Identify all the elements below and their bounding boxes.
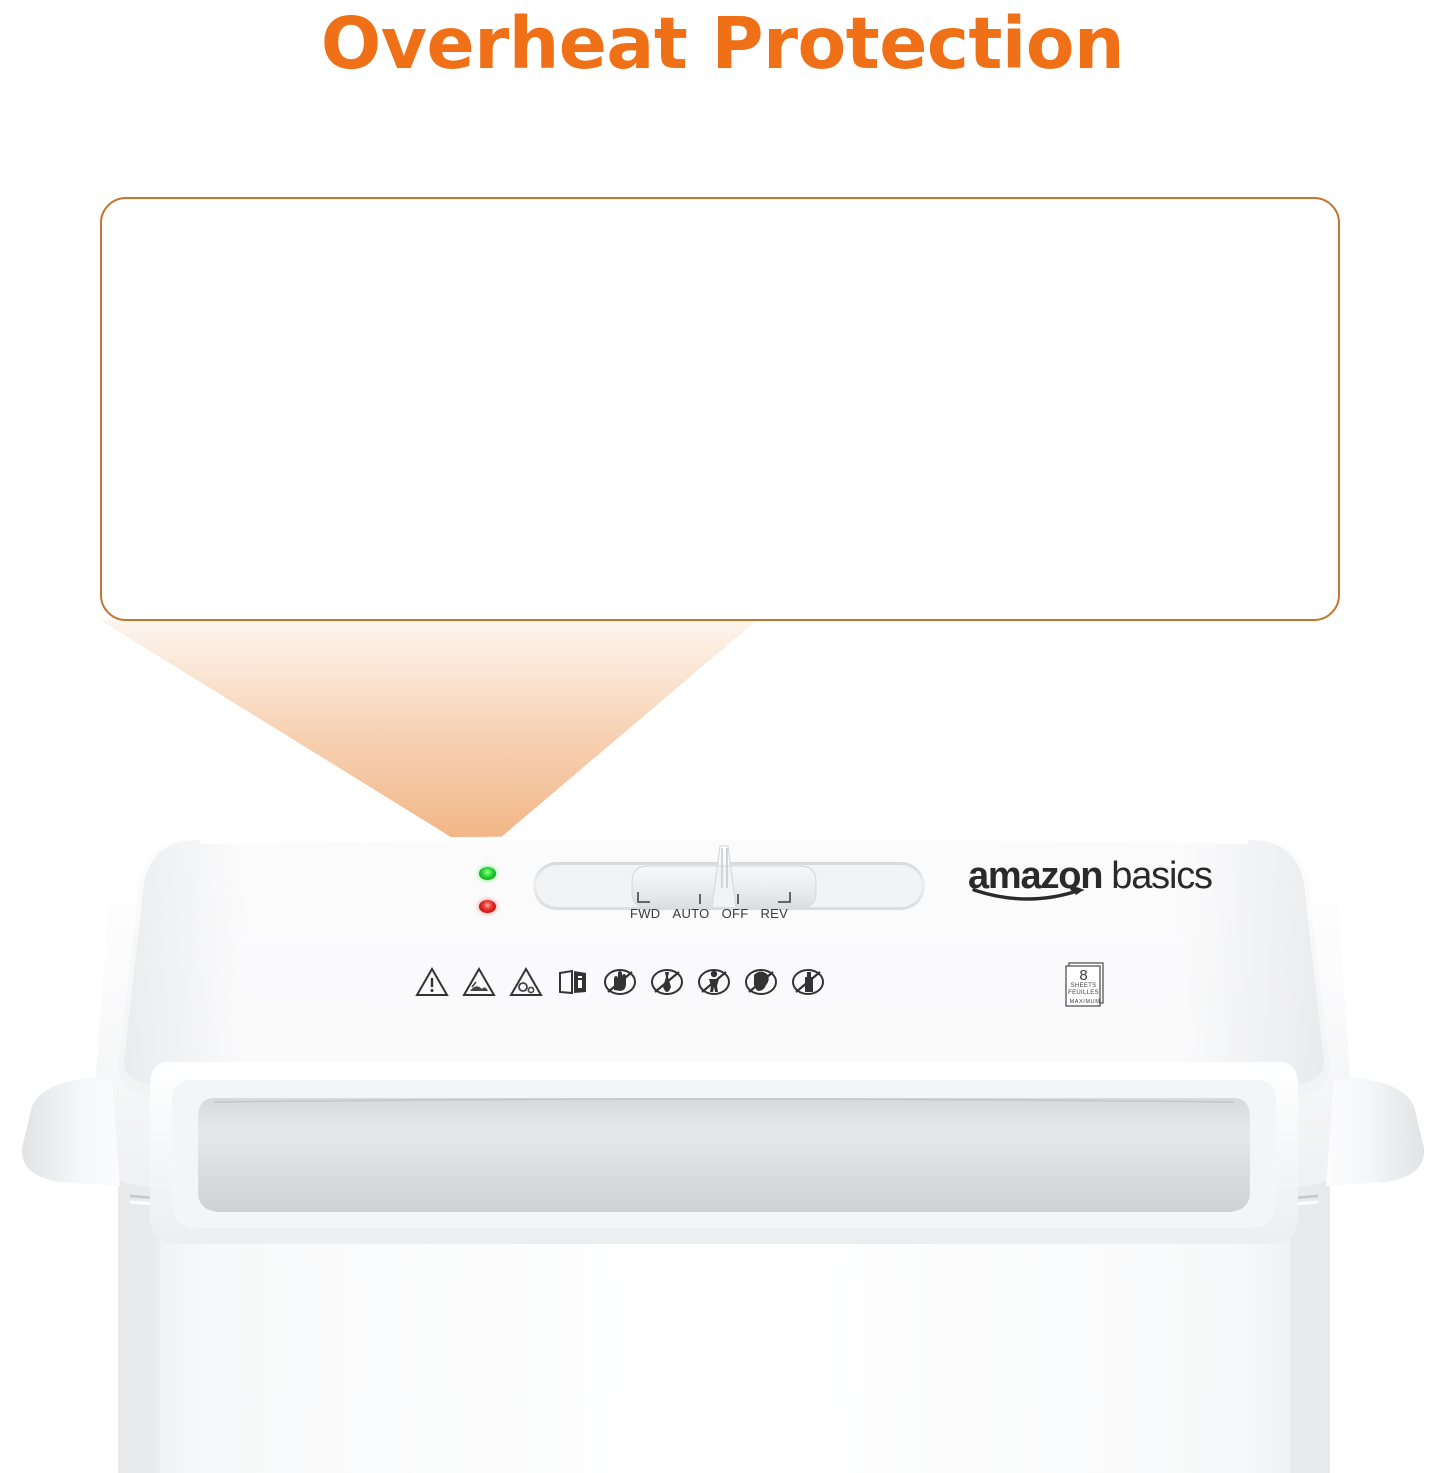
amazon-smile-icon — [972, 887, 1090, 903]
no-tie-icon — [650, 965, 684, 999]
no-aerosol-icon — [791, 965, 825, 999]
amazon-basics-logo: amazonbasics — [968, 855, 1212, 898]
sheet-count: 8 — [1060, 968, 1107, 983]
no-children-icon — [697, 965, 731, 999]
switch-label-auto[interactable]: AUTO — [673, 906, 710, 921]
warning-exclamation-icon — [415, 965, 449, 999]
no-long-hair-icon — [744, 965, 778, 999]
switch-position-labels: FWD AUTO OFF REV — [630, 906, 788, 921]
brand-basics: basics — [1111, 855, 1212, 897]
machine-overload-led — [479, 900, 496, 913]
switch-label-off[interactable]: OFF — [722, 906, 749, 921]
sheet-word-en: SHEETS — [1060, 983, 1107, 990]
machine-power-led — [479, 867, 496, 880]
sheet-word-fr: FEUILLES — [1060, 990, 1107, 997]
shredder-product-photo — [0, 830, 1445, 1473]
page-title: Overheat Protection — [0, 2, 1445, 85]
read-manual-icon — [556, 965, 590, 999]
no-hands-icon — [603, 965, 637, 999]
sheet-capacity-badge: 8 SHEETS FEUILLES MAXIMUM — [1063, 962, 1107, 1012]
infographic-root: Overheat Protection When the light is gr… — [0, 0, 1445, 1473]
callout-box — [100, 197, 1340, 621]
switch-label-rev[interactable]: REV — [760, 906, 788, 921]
warning-eye-hazard-icon — [509, 965, 543, 999]
warning-icon-strip — [415, 965, 825, 999]
sheet-maximum: MAXIMUM — [1063, 999, 1107, 1005]
switch-label-fwd[interactable]: FWD — [630, 906, 661, 921]
warning-hand-hazard-icon — [462, 965, 496, 999]
